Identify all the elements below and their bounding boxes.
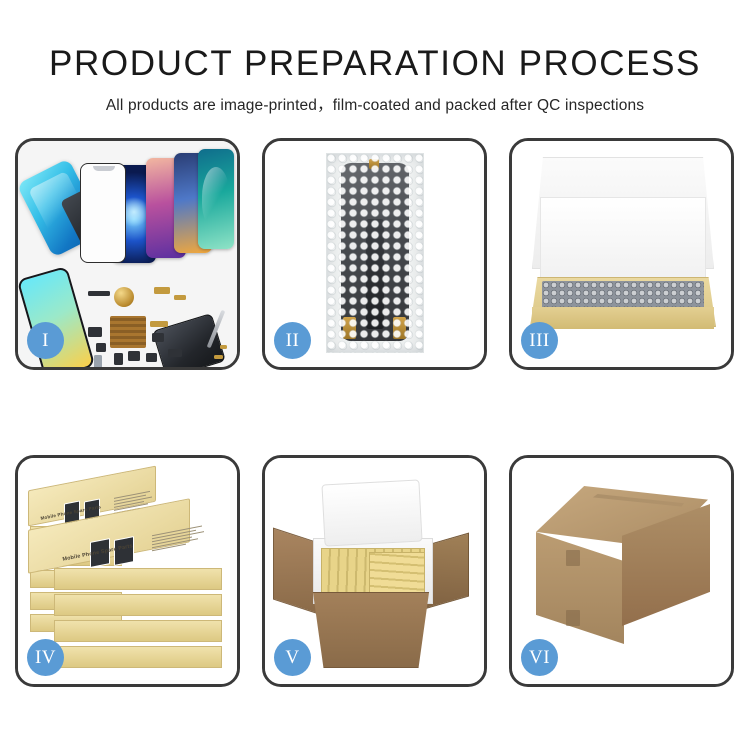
box-stack: Mobile Phone Spare Parts Mobile Phone Sp… [28,478,228,668]
step-panel-3: III [509,138,734,370]
step-badge: III [521,322,558,359]
step-badge: II [274,322,311,359]
connector-icon [393,317,406,339]
step-badge: VI [521,639,558,676]
step-badge: I [27,322,64,359]
front-glass-panel-icon [80,163,126,263]
foam-lid-icon [321,479,422,546]
retail-boxes-icon [369,552,425,594]
process-step-grid: I II [15,138,735,688]
phone-display-icon [198,149,234,249]
step-panel-2: II [262,138,487,370]
vibration-motor-icon [114,287,134,307]
page-title: PRODUCT PREPARATION PROCESS [0,44,750,84]
product-preparation-infographic: PRODUCT PREPARATION PROCESS All products… [0,0,750,750]
connector-icon [343,317,356,339]
step-panel-1: I [15,138,240,370]
step-panel-4: Mobile Phone Spare Parts Mobile Phone Sp… [15,455,240,687]
step-badge: IV [27,639,64,676]
step-panel-6: VI [509,455,734,687]
connector-icon [369,159,379,169]
flex-cable-icon [366,219,384,329]
foam-sheet-icon [540,197,706,281]
logic-board-icon [110,316,146,348]
mailer-box-front-icon [532,307,714,329]
carton-body-icon [305,592,437,668]
page-subtitle: All products are image-printed，film-coat… [0,93,750,115]
step-panel-5: V [262,455,487,687]
header: PRODUCT PREPARATION PROCESS All products… [0,0,750,115]
step-badge: V [274,639,311,676]
